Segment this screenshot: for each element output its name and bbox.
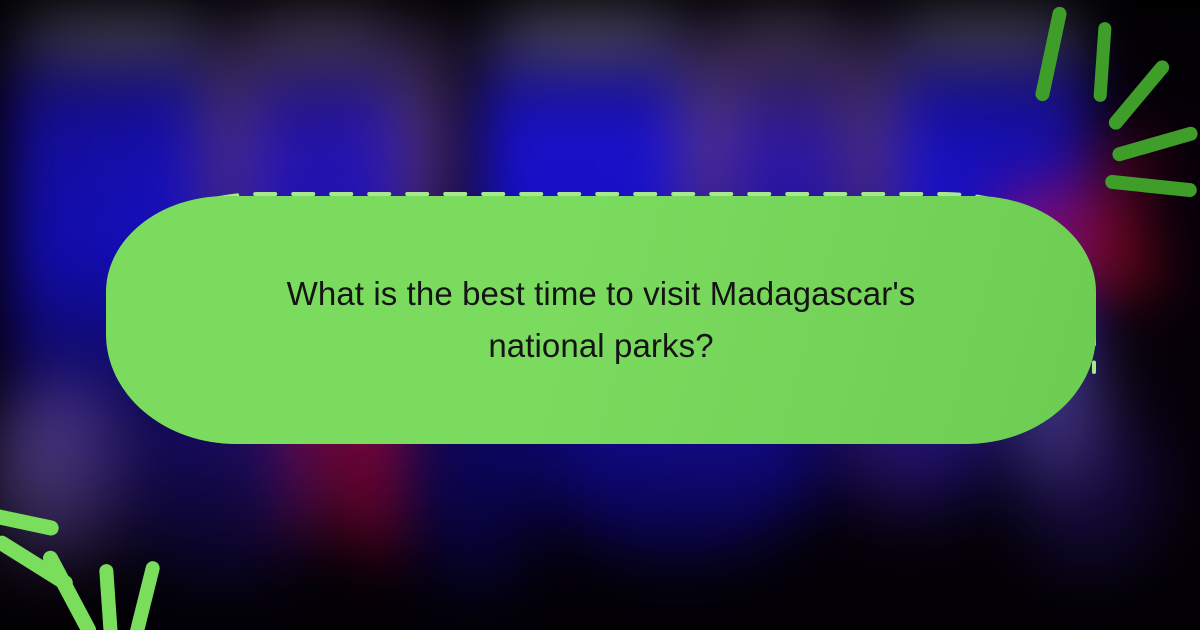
question-text: What is the best time to visit Madagasca…	[221, 268, 981, 372]
burst-ray-2	[1093, 22, 1112, 103]
question-bubble: What is the best time to visit Madagasca…	[106, 196, 1096, 444]
question-line-2: national parks?	[221, 320, 981, 372]
burst-bottom-left	[0, 460, 190, 630]
burst-top-right	[1010, 0, 1200, 170]
burst-ray-3	[1106, 58, 1172, 133]
burst-ray-4	[99, 564, 119, 630]
burst-ray-1	[0, 503, 60, 537]
share-card: What is the best time to visit Madagasca…	[0, 0, 1200, 630]
burst-ray-1	[1034, 6, 1068, 103]
burst-ray-3	[40, 548, 98, 630]
question-line-1: What is the best time to visit Madagasca…	[221, 268, 981, 320]
burst-ray-5	[125, 560, 161, 630]
burst-ray-4	[1111, 125, 1199, 163]
